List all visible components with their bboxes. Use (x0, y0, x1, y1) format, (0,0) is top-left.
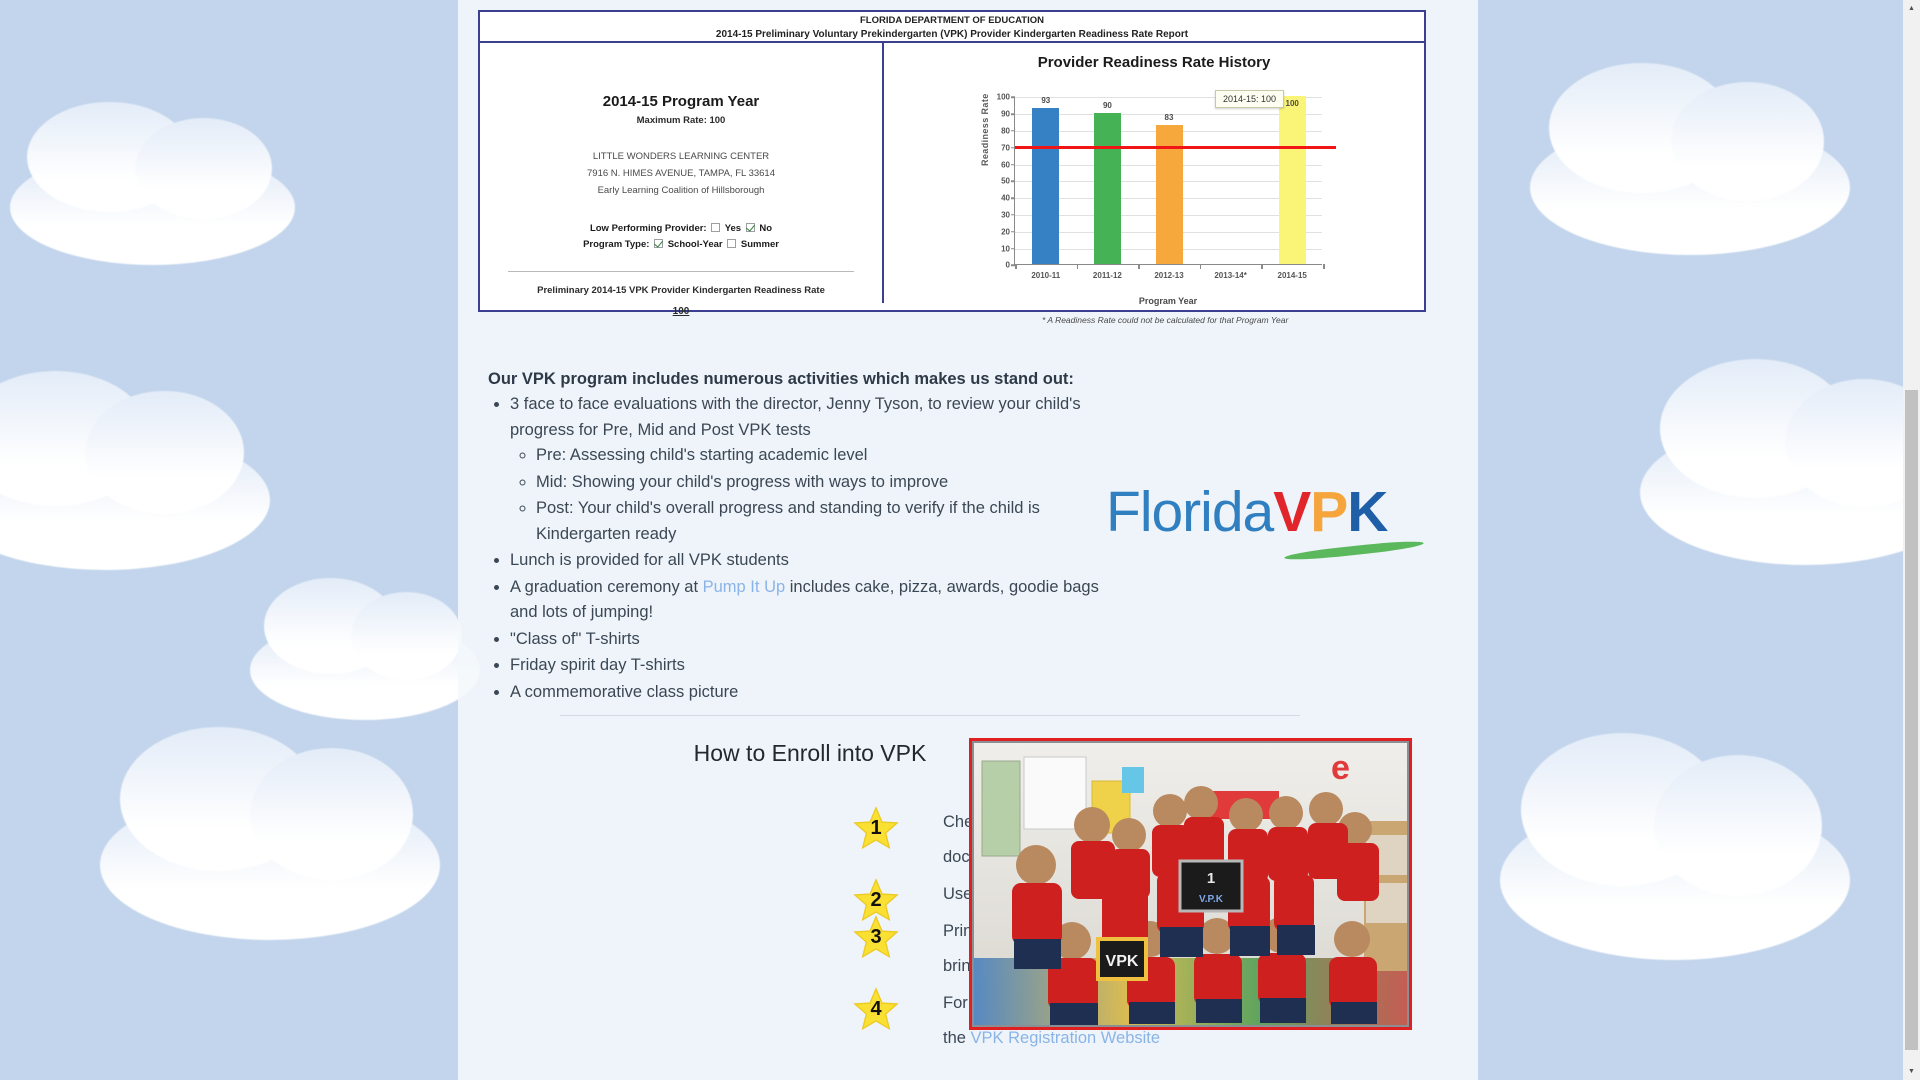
class-photo-svg: e (974, 743, 1407, 1025)
chart-y-tick-label: 90 (1001, 110, 1010, 119)
maximum-rate: Maximum Rate: 100 (480, 115, 882, 126)
chart-y-tickmark (1011, 197, 1015, 199)
chart-x-axis-label: Program Year (1139, 296, 1197, 306)
activity-subitem: Mid: Showing your child's progress with … (536, 470, 1128, 496)
program-type-label: Program Type: (583, 239, 649, 250)
chart-y-tickmark (1011, 181, 1015, 183)
chart-x-tickmark (1200, 264, 1202, 269)
svg-text:V.P.K: V.P.K (1199, 894, 1224, 905)
vertical-scrollbar[interactable]: ▲ ▼ (1903, 0, 1920, 1080)
cloud-decoration (250, 620, 480, 720)
chart-bar-value-label: 90 (1103, 101, 1112, 110)
report-left-panel: 2014-15 Program Year Maximum Rate: 100 L… (480, 43, 884, 303)
class-photo-image: e (974, 743, 1407, 1025)
activity-subitem: Post: Your child's overall progress and … (536, 496, 1128, 547)
program-year-title: 2014-15 Program Year (480, 93, 882, 110)
low-performing-yes-label: Yes (725, 223, 741, 234)
activity-text: Friday spirit day T-shirts (510, 656, 685, 674)
report-header-line2: 2014-15 Preliminary Voluntary Prekinderg… (480, 28, 1424, 42)
chart-y-tickmark (1011, 97, 1015, 99)
program-type-summer-label: Summer (741, 239, 779, 250)
low-performing-row: Low Performing Provider: Yes No (480, 221, 882, 237)
provider-address: 7916 N. HIMES AVENUE, TAMPA, FL 33614 (480, 166, 882, 183)
chart-title: Provider Readiness Rate History (884, 43, 1424, 71)
chart-y-tick-label: 100 (997, 93, 1010, 102)
final-rate-value: 100 (480, 306, 882, 317)
provider-coalition: Early Learning Coalition of Hillsborough (480, 183, 882, 200)
program-type-summer-checkbox[interactable] (727, 239, 736, 248)
activities-heading: Our VPK program includes numerous activi… (488, 370, 1128, 389)
chart-x-tick-label: 2012-13 (1154, 271, 1183, 280)
program-type-school-year-label: School-Year (668, 239, 723, 250)
low-performing-yes-checkbox[interactable] (711, 223, 720, 232)
chart-x-tick-label: 2013-14* (1214, 271, 1246, 280)
provider-info: LITTLE WONDERS LEARNING CENTER 7916 N. H… (480, 149, 882, 199)
chart-y-tickmark (1011, 113, 1015, 115)
logo-k-text: K (1347, 480, 1387, 544)
readiness-chart: Readiness Rate 0102030405060708090100932… (884, 71, 1424, 296)
activity-sublist: Pre: Assessing child's starting academic… (536, 443, 1128, 547)
scrollbar-thumb[interactable] (1905, 390, 1918, 1050)
svg-text:VPK: VPK (1106, 953, 1139, 970)
cloud-decoration (1530, 120, 1850, 255)
chart-y-tickmark (1011, 248, 1015, 250)
chart-bar[interactable]: 93 (1032, 108, 1059, 264)
class-photo: e (969, 738, 1412, 1030)
activity-item: A graduation ceremony at Pump It Up incl… (510, 575, 1128, 626)
activity-item: A commemorative class picture (510, 680, 1128, 706)
chart-x-tickmark (1138, 264, 1140, 269)
chart-bar[interactable]: 100 (1279, 96, 1306, 264)
cloud-decoration (1500, 800, 1850, 960)
low-performing-label: Low Performing Provider: (590, 223, 707, 234)
chart-y-tick-label: 40 (1001, 194, 1010, 203)
cloud-decoration (1640, 420, 1920, 565)
chart-bar-value-label: 93 (1041, 96, 1050, 105)
chart-y-tick-label: 70 (1001, 143, 1010, 152)
logo-p-text: P (1310, 480, 1347, 544)
activity-item: 3 face to face evaluations with the dire… (510, 392, 1128, 547)
cloud-decoration (0, 430, 270, 570)
activity-text: A commemorative class picture (510, 683, 738, 701)
chart-x-tickmark (1323, 264, 1325, 269)
chart-y-tickmark (1011, 130, 1015, 132)
chart-bar-value-label: 100 (1286, 99, 1299, 108)
scroll-down-arrow-icon[interactable]: ▼ (1903, 1063, 1920, 1080)
program-type-school-year-checkbox[interactable] (654, 239, 663, 248)
chart-x-tick-label: 2011-12 (1093, 271, 1122, 280)
activity-link[interactable]: Pump It Up (703, 578, 786, 596)
activity-subitem: Pre: Assessing child's starting academic… (536, 443, 1128, 469)
activity-item: Lunch is provided for all VPK students (510, 548, 1128, 574)
chart-bar[interactable]: 90 (1094, 113, 1121, 264)
scroll-up-arrow-icon[interactable]: ▲ (1903, 0, 1920, 17)
chart-y-tickmark (1011, 164, 1015, 166)
report-header: FLORIDA DEPARTMENT OF EDUCATION 2014-15 … (480, 12, 1424, 41)
step-number: 4 (853, 986, 899, 1032)
section-divider (560, 715, 1300, 716)
step-number: 1 (853, 805, 899, 851)
report-divider (508, 271, 854, 272)
activities-section: Our VPK program includes numerous activi… (488, 370, 1128, 706)
chart-x-tick-label: 2014-15 (1278, 271, 1307, 280)
chart-y-tick-label: 80 (1001, 126, 1010, 135)
chart-x-tickmark (1261, 264, 1263, 269)
report-header-line1: FLORIDA DEPARTMENT OF EDUCATION (480, 15, 1424, 28)
chart-y-tick-label: 50 (1001, 177, 1010, 186)
low-performing-no-label: No (759, 223, 772, 234)
provider-name: LITTLE WONDERS LEARNING CENTER (480, 149, 882, 166)
report-right-panel: Provider Readiness Rate History Readines… (884, 43, 1424, 303)
chart-y-tick-label: 30 (1001, 210, 1010, 219)
activity-text: Lunch is provided for all VPK students (510, 551, 789, 569)
logo-v-text: V (1273, 480, 1310, 544)
chart-x-tick-label: 2010-11 (1031, 271, 1060, 280)
page-content-column: FLORIDA DEPARTMENT OF EDUCATION 2014-15 … (458, 0, 1478, 1080)
activity-item: "Class of" T-shirts (510, 627, 1128, 653)
activities-list: 3 face to face evaluations with the dire… (510, 392, 1128, 705)
chart-y-tick-label: 20 (1001, 227, 1010, 236)
activity-text: 3 face to face evaluations with the dire… (510, 395, 1081, 439)
chart-footnote: * A Readiness Rate could not be calculat… (1042, 315, 1288, 325)
chart-y-tickmark (1011, 214, 1015, 216)
activity-text: A graduation ceremony at (510, 578, 703, 596)
chart-y-tick-label: 0 (1006, 261, 1010, 270)
svg-text:1: 1 (1207, 870, 1215, 887)
svg-text:e: e (1331, 749, 1350, 787)
activity-text: "Class of" T-shirts (510, 630, 640, 648)
activity-item: Friday spirit day T-shirts (510, 653, 1128, 679)
chart-y-tickmark (1011, 231, 1015, 233)
final-rate-label: Preliminary 2014-15 VPK Provider Kinderg… (480, 285, 882, 296)
chart-threshold-line (1015, 146, 1336, 149)
chart-x-tickmark (1015, 264, 1017, 269)
low-performing-no-checkbox[interactable] (746, 223, 755, 232)
chart-y-axis-label: Readiness Rate (980, 94, 990, 167)
chart-plot-area: 0102030405060708090100932010-11902011-12… (1014, 97, 1322, 265)
chart-y-tick-label: 10 (1001, 244, 1010, 253)
chart-y-tick-label: 60 (1001, 160, 1010, 169)
step-number: 3 (853, 914, 899, 960)
chart-bar-value-label: 83 (1165, 113, 1174, 122)
logo-florida-text: Florida (1106, 480, 1273, 544)
report-checkboxes: Low Performing Provider: Yes No Program … (480, 221, 882, 253)
chart-tooltip: 2014-15: 100 (1215, 90, 1284, 108)
step-link[interactable]: VPK Registration Website (971, 1029, 1161, 1047)
program-type-row: Program Type: School-Year Summer (480, 237, 882, 253)
cloud-decoration (10, 150, 295, 265)
florida-vpk-logo: FloridaVPK (1106, 484, 1446, 562)
vpk-readiness-report-card: FLORIDA DEPARTMENT OF EDUCATION 2014-15 … (478, 10, 1426, 312)
chart-x-tickmark (1077, 264, 1079, 269)
cloud-decoration (100, 790, 440, 940)
